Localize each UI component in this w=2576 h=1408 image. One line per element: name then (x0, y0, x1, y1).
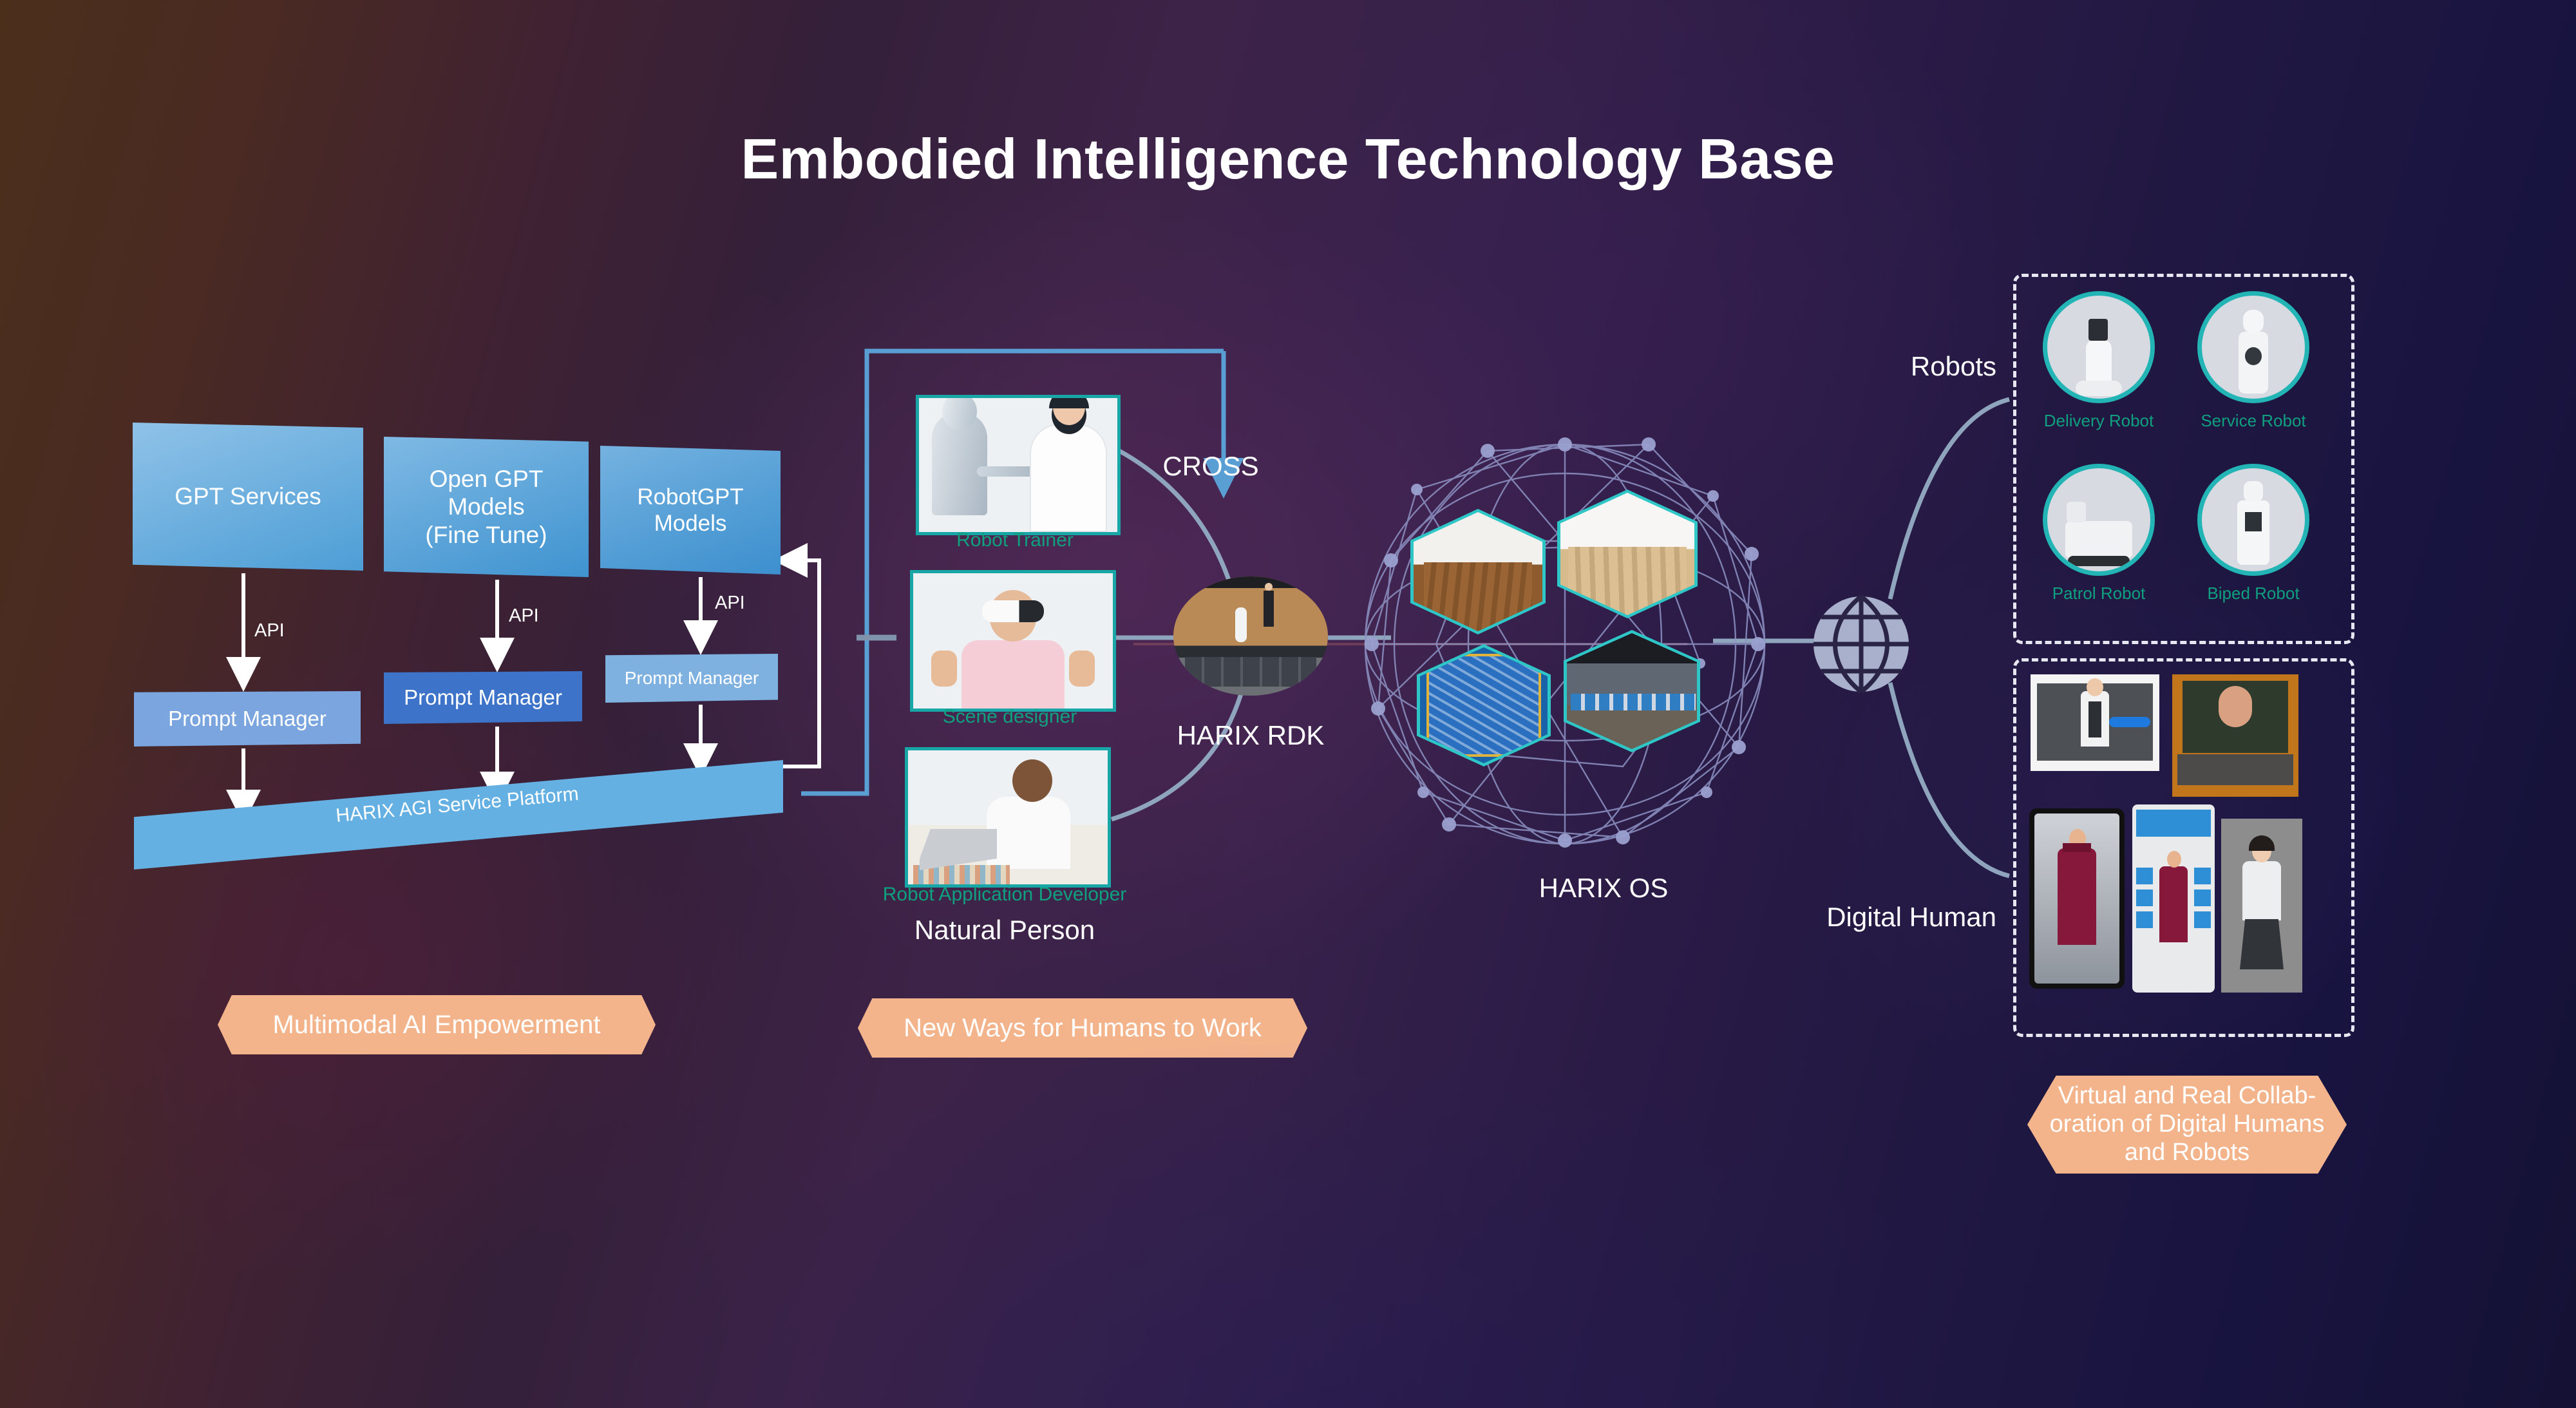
digital-human-panel (2013, 658, 2354, 1037)
digital-human-label: Digital Human (1726, 902, 1996, 933)
tablet-kiosk-avatar[interactable] (2132, 804, 2215, 993)
card-caption-scene-designer: Scene designer (882, 706, 1137, 728)
prompt-manager-3[interactable]: Prompt Manager (605, 654, 778, 703)
prompt-manager-2[interactable]: Prompt Manager (384, 671, 582, 724)
robots-label: Robots (1803, 351, 1996, 382)
kiosk-display-avatar[interactable] (2031, 674, 2159, 771)
robot-item-patrol[interactable]: Patrol Robot (2034, 464, 2163, 604)
hex-tile-restaurant-scene[interactable] (1410, 509, 1546, 634)
standing-avatar[interactable] (2221, 819, 2302, 993)
rdk-robot-figure (1235, 607, 1247, 642)
developer-laptop-photo (987, 797, 1070, 869)
banner-label: Multimodal AI Empowerment (272, 1010, 600, 1040)
cross-label: CROSS (1075, 451, 1346, 482)
natural-person-group-label: Natural Person (857, 915, 1153, 946)
robot-item-biped[interactable]: Biped Robot (2189, 464, 2318, 604)
card-caption-robot-trainer: Robot Trainer (889, 529, 1141, 551)
api-label-1: API (254, 620, 285, 642)
delivery-robot-icon (2043, 291, 2155, 403)
robot-item-service[interactable]: Service Robot (2189, 291, 2318, 431)
rdk-person-figure (1264, 591, 1274, 627)
vr-scene-designer-photo (961, 640, 1065, 711)
rdk-node-editor (1185, 657, 1316, 687)
banner-label: Virtual and Real Collab- oration of Digi… (2050, 1082, 2325, 1166)
api-label-2: API (509, 605, 539, 627)
hex-tile-store-scene[interactable] (1564, 630, 1700, 752)
api-label-3: API (715, 593, 745, 614)
card-caption-robot-application-developer: Robot Application Developer (857, 884, 1153, 906)
prompt-manager-label: Prompt Manager (625, 668, 759, 689)
developer-head (1012, 759, 1052, 802)
hex-tile-stadium-scene[interactable] (1417, 644, 1551, 766)
robots-panel: Delivery Robot Service Robot Patrol Robo… (2013, 274, 2354, 644)
block-label: RobotGPT Models (637, 484, 743, 537)
page-title: Embodied Intelligence Technology Base (0, 126, 2576, 192)
prompt-manager-1[interactable]: Prompt Manager (134, 691, 361, 747)
robot-label: Service Robot (2189, 411, 2318, 431)
robot-trainer-photo (932, 412, 987, 515)
banner-new-ways-for-humans-to-work[interactable]: New Ways for Humans to Work (858, 998, 1307, 1058)
diagram-canvas: Embodied Intelligence Technology Base GP… (0, 0, 2576, 1408)
vr-headset-icon (982, 600, 1044, 622)
phone-avatar[interactable] (2029, 808, 2125, 989)
hand-right (1069, 651, 1095, 687)
patrol-robot-icon (2043, 464, 2155, 576)
robot-label: Patrol Robot (2034, 584, 2163, 604)
hex-tile-room-scene[interactable] (1557, 490, 1698, 618)
block-label: GPT Services (175, 482, 321, 511)
block-gpt-services[interactable]: GPT Services (133, 423, 363, 571)
harix-rdk-preview[interactable] (1173, 576, 1328, 696)
rdk-ceiling (1173, 576, 1328, 588)
block-robotgpt-models[interactable]: RobotGPT Models (600, 446, 781, 575)
robot-label: Biped Robot (2189, 584, 2318, 604)
biped-robot-icon (2197, 464, 2309, 576)
card-robot-application-developer[interactable] (905, 747, 1111, 888)
banner-multimodal-ai-empowerment[interactable]: Multimodal AI Empowerment (218, 995, 656, 1054)
harix-rdk-label: HARIX RDK (1109, 720, 1392, 751)
robot-label: Delivery Robot (2034, 411, 2163, 431)
robot-item-delivery[interactable]: Delivery Robot (2034, 291, 2163, 431)
block-open-gpt-models[interactable]: Open GPT Models (Fine Tune) (384, 437, 589, 577)
laptop-video-avatar[interactable] (2172, 674, 2298, 797)
banner-label: New Ways for Humans to Work (904, 1013, 1262, 1043)
card-scene-designer[interactable] (910, 570, 1116, 712)
prompt-manager-label: Prompt Manager (168, 707, 327, 731)
service-robot-icon (2197, 291, 2309, 403)
prompt-manager-label: Prompt Manager (404, 685, 562, 710)
banner-virtual-real-collaboration[interactable]: Virtual and Real Collab- oration of Digi… (2027, 1076, 2347, 1174)
block-label: Open GPT Models (Fine Tune) (425, 465, 547, 549)
hand-left (931, 651, 957, 687)
globe-icon (1814, 596, 1909, 692)
harix-os-label: HARIX OS (1449, 873, 1758, 904)
